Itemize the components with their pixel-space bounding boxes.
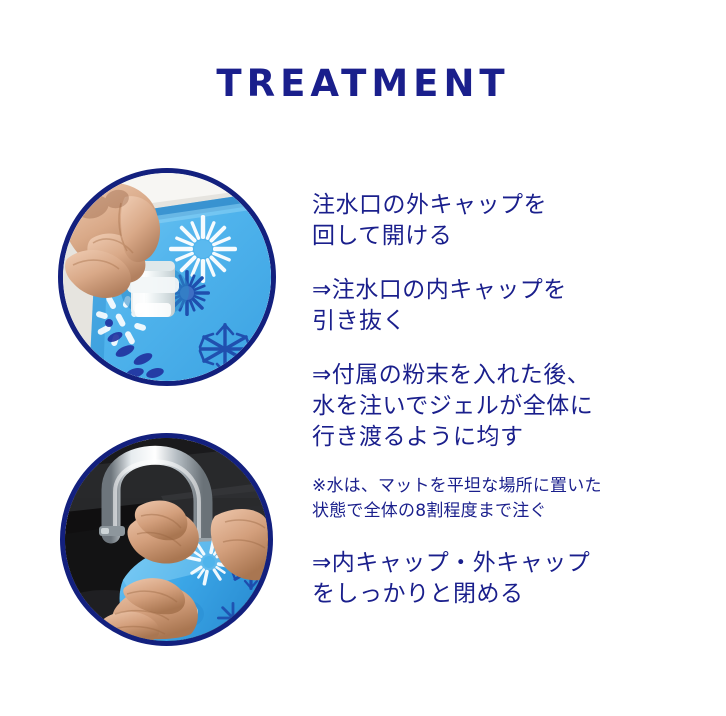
instruction-step-4: ⇒内キャップ・外キャップ をしっかりと閉める xyxy=(312,548,720,610)
page-title: TREATMENT xyxy=(0,62,726,106)
instruction-step-2: ⇒注水口の内キャップを 引き抜く xyxy=(312,275,720,337)
instruction-note: ※水は、マットを平坦な場所に置いた 状態で全体の8割程度まで注ぐ xyxy=(312,474,720,524)
photo-fill-water-image xyxy=(65,438,268,641)
photo-fill-water xyxy=(60,433,273,646)
fill-water-illustration xyxy=(65,438,268,641)
open-cap-illustration xyxy=(63,173,271,381)
instructions-list: 注水口の外キャップを 回して開ける ⇒注水口の内キャップを 引き抜く ⇒付属の粉… xyxy=(312,190,720,610)
photo-open-cap-image xyxy=(63,173,271,381)
instruction-step-3: ⇒付属の粉末を入れた後、 水を注いでジェルが全体に 行き渡るように均す xyxy=(312,360,720,453)
photo-open-cap xyxy=(58,168,276,386)
instruction-step-1: 注水口の外キャップを 回して開ける xyxy=(312,190,720,252)
